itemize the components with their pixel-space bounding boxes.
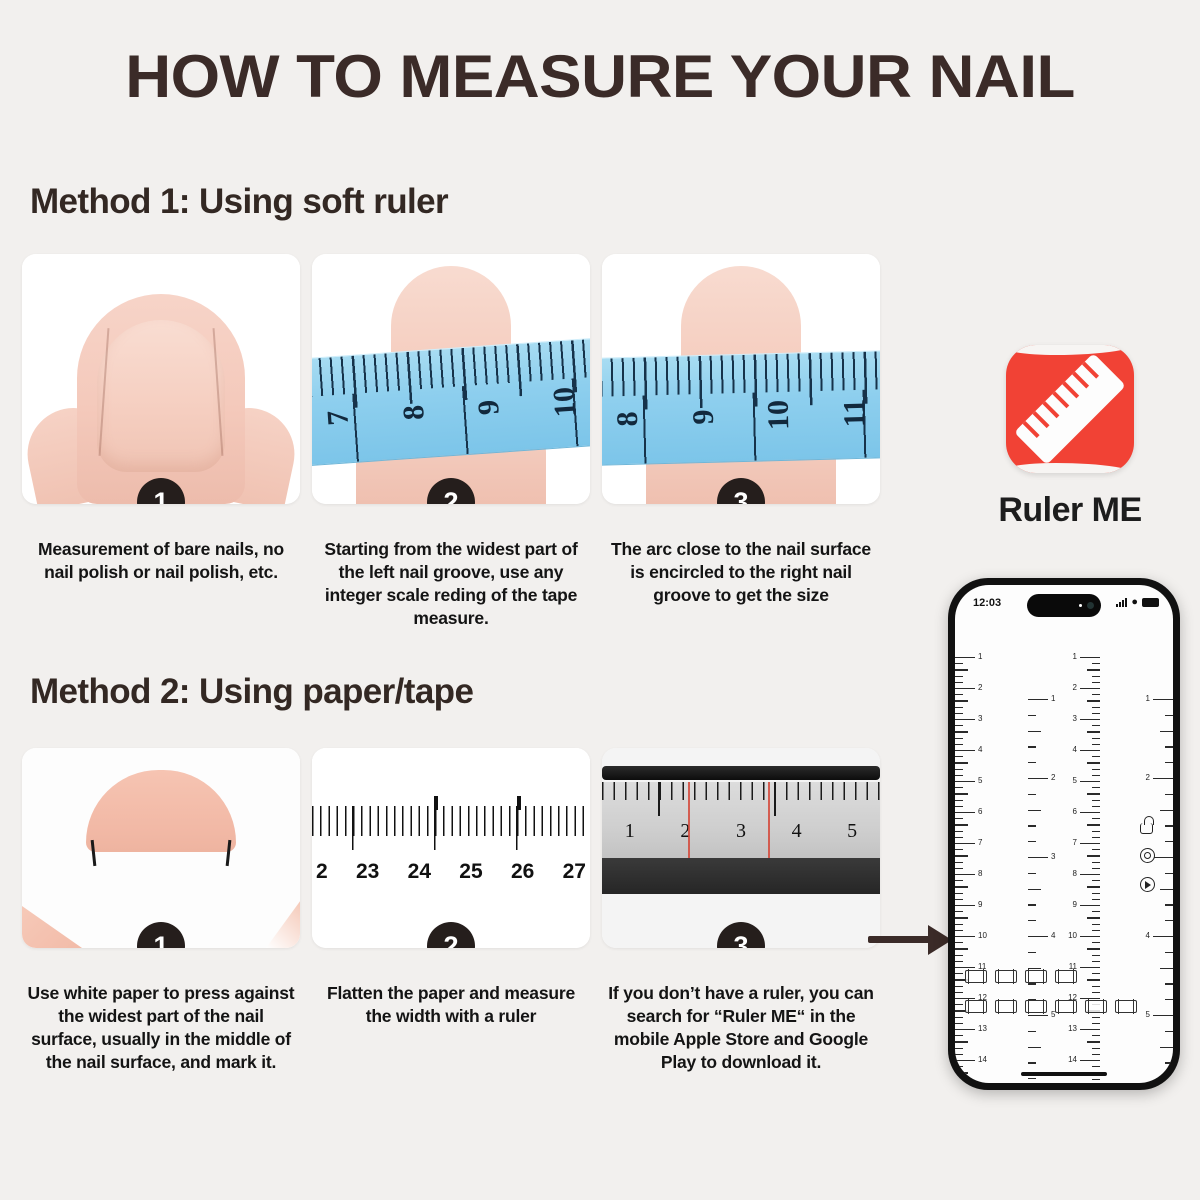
scale-minor-tick <box>955 700 968 701</box>
scale-number: 7 <box>978 838 982 847</box>
blue-tape-measure: 8 9 10 11 <box>602 350 880 466</box>
scale-minor-tick <box>1092 1017 1100 1018</box>
scale-minor-tick <box>1160 889 1173 890</box>
scale-major-tick <box>1153 857 1173 858</box>
ruler-dark-edge <box>602 766 880 780</box>
scale-minor-tick <box>1092 738 1100 739</box>
scale-minor-tick <box>1092 1048 1100 1049</box>
scale-minor-tick <box>955 1048 963 1049</box>
app-promo: Ruler ME <box>940 345 1200 530</box>
scale-minor-tick <box>955 911 963 912</box>
phone-screen[interactable]: 12:03 ● 1234567891011121314 123456789101… <box>955 585 1173 1083</box>
ruler-number: 3 <box>713 820 769 843</box>
left-cm-scale: 1234567891011121314 <box>955 625 1001 1059</box>
scale-number: 8 <box>1073 869 1077 878</box>
phone-tool-icons <box>1140 823 1155 892</box>
skin-corner-right <box>266 896 300 948</box>
scale-minor-tick <box>1087 793 1100 794</box>
scale-major-tick <box>1153 699 1173 700</box>
scale-number: 2 <box>1073 683 1077 692</box>
scale-minor-tick <box>1028 873 1036 874</box>
scale-number: 10 <box>978 931 987 940</box>
scale-minor-tick <box>1092 893 1100 894</box>
paper-ruler-photo: 2 23 24 25 26 27 2 <box>312 748 590 948</box>
scale-minor-tick <box>955 924 963 925</box>
scale-minor-tick <box>955 793 968 794</box>
scale-minor-tick <box>955 831 963 832</box>
scale-minor-tick <box>955 731 968 732</box>
measure-chip[interactable] <box>1025 1000 1047 1013</box>
scale-number: 13 <box>978 1024 987 1033</box>
scale-minor-tick <box>955 899 963 900</box>
arrow-right-icon <box>868 922 952 956</box>
scale-minor-tick <box>955 669 968 670</box>
scale-minor-tick <box>1165 999 1173 1000</box>
ruler-number: 25 <box>459 860 482 884</box>
scale-minor-tick <box>1087 731 1100 732</box>
ruler-app-icon[interactable] <box>1006 345 1134 473</box>
scale-number: 14 <box>1068 1055 1077 1064</box>
measure-widget-row[interactable] <box>965 997 1163 1016</box>
thumb-with-tape-illustration: 7 8 9 10 <box>312 254 590 504</box>
scale-minor-tick <box>955 862 963 863</box>
scale-minor-tick <box>955 880 963 881</box>
scale-minor-tick <box>955 930 963 931</box>
scale-minor-tick <box>1028 1062 1036 1063</box>
scale-minor-tick <box>955 973 963 974</box>
tape-number: 9 <box>470 369 509 447</box>
ruler-number: 5 <box>824 820 880 843</box>
scale-minor-tick <box>955 893 963 894</box>
scale-major-tick <box>955 1060 975 1061</box>
measure-chip[interactable] <box>1115 1000 1137 1013</box>
page-title: HOW TO MEASURE YOUR NAIL <box>0 42 1200 111</box>
thumb-encircled-illustration: 8 9 10 11 <box>602 254 880 504</box>
scale-number: 5 <box>1073 776 1077 785</box>
scale-minor-tick <box>1087 762 1100 763</box>
nail-imprint <box>86 770 236 852</box>
paper-ruler-numbers: 2 23 24 25 26 27 <box>312 860 590 884</box>
scale-minor-tick <box>955 1023 963 1024</box>
scale-major-tick <box>955 1029 975 1030</box>
signal-icon <box>1116 598 1127 607</box>
battery-icon <box>1142 598 1159 607</box>
paper-illustration <box>22 748 300 948</box>
method-2-step-3: 1 2 3 4 5 3 If you don’t have a ruler, y… <box>602 748 880 1074</box>
step-caption: The arc close to the nail surface is enc… <box>602 538 880 607</box>
camera-icon[interactable] <box>1140 848 1155 863</box>
scale-minor-tick <box>1165 1062 1173 1063</box>
scale-major-tick <box>955 905 975 906</box>
ruler-number: 1 <box>602 820 658 843</box>
scale-number: 6 <box>1073 807 1077 816</box>
scale-minor-tick <box>1028 904 1036 905</box>
scale-minor-tick <box>1028 746 1036 747</box>
scale-minor-tick <box>1092 924 1100 925</box>
scale-minor-tick <box>1092 800 1100 801</box>
scale-minor-tick <box>955 682 963 683</box>
scale-major-tick <box>1080 719 1100 720</box>
scale-minor-tick <box>1092 880 1100 881</box>
ruler-number: 26 <box>511 860 534 884</box>
lock-icon[interactable] <box>1140 823 1153 834</box>
scale-minor-tick <box>955 855 968 856</box>
scale-minor-tick <box>955 769 963 770</box>
ruler-number: 2 <box>658 820 714 843</box>
scale-minor-tick <box>1165 746 1173 747</box>
scale-minor-tick <box>1092 930 1100 931</box>
fingernail <box>97 320 225 472</box>
nail-on-paper-photo: 1 <box>22 748 300 948</box>
scale-minor-tick <box>1092 1023 1100 1024</box>
method-2-heading: Method 2: Using paper/tape <box>30 672 473 712</box>
step-caption: Measurement of bare nails, no nail polis… <box>22 538 300 584</box>
scale-major-tick <box>1153 778 1173 779</box>
scale-major-tick <box>1080 936 1100 937</box>
scale-minor-tick <box>1092 862 1100 863</box>
scale-minor-tick <box>955 849 963 850</box>
scale-number: 2 <box>978 683 982 692</box>
scale-minor-tick <box>1092 955 1100 956</box>
scale-minor-tick <box>955 1041 968 1042</box>
step-caption: Use white paper to press against the wid… <box>22 982 300 1074</box>
measure-chip[interactable] <box>965 970 987 983</box>
scale-minor-tick <box>955 992 963 993</box>
scale-minor-tick <box>1092 837 1100 838</box>
scale-minor-tick <box>1165 873 1173 874</box>
scale-number: 4 <box>978 745 982 754</box>
scale-minor-tick <box>1165 983 1173 984</box>
tape-measure-photo-2: 8 9 10 11 3 <box>602 254 880 504</box>
method-2-step-2: 2 23 24 25 26 27 2 Flatten the paper and… <box>312 748 590 1074</box>
method-1-step-2: 7 8 9 10 2 Starting from the widest part… <box>312 254 590 630</box>
scale-minor-tick <box>1028 1047 1041 1048</box>
method-1-step-3: 8 9 10 11 3 The arc close to the nail su… <box>602 254 880 630</box>
play-icon[interactable] <box>1140 877 1155 892</box>
scale-minor-tick <box>955 1004 963 1005</box>
scale-minor-tick <box>1092 787 1100 788</box>
tape-numbers: 8 9 10 11 <box>602 395 880 437</box>
scale-minor-tick <box>955 694 963 695</box>
scale-number: 8 <box>978 869 982 878</box>
scale-minor-tick <box>1028 1078 1036 1079</box>
ruler-body: 1 2 3 4 5 <box>602 782 880 858</box>
measure-chip[interactable] <box>1085 1000 1107 1013</box>
scale-minor-tick <box>1092 911 1100 912</box>
finger-illustration <box>22 254 300 504</box>
scale-number: 10 <box>1068 931 1077 940</box>
scale-minor-tick <box>1087 886 1100 887</box>
scale-minor-tick <box>1028 794 1036 795</box>
scale-minor-tick <box>1092 725 1100 726</box>
scale-number: 9 <box>978 900 982 909</box>
scale-minor-tick <box>1165 904 1173 905</box>
scale-minor-tick <box>955 942 963 943</box>
home-indicator <box>1021 1072 1107 1076</box>
scale-minor-tick <box>955 738 963 739</box>
scale-minor-tick <box>955 824 968 825</box>
method-1-step-1: 1 Measurement of bare nails, no nail pol… <box>22 254 300 630</box>
scale-number: 4 <box>1073 745 1077 754</box>
scale-minor-tick <box>1092 682 1100 683</box>
scale-minor-tick <box>955 1072 968 1073</box>
scale-minor-tick <box>1092 775 1100 776</box>
scale-minor-tick <box>1092 1066 1100 1067</box>
scale-minor-tick <box>1028 920 1036 921</box>
scale-minor-tick <box>1165 920 1173 921</box>
scale-minor-tick <box>955 837 963 838</box>
scale-major-tick <box>1080 1029 1100 1030</box>
scale-minor-tick <box>1087 1041 1100 1042</box>
scale-major-tick <box>1080 688 1100 689</box>
scale-minor-tick <box>955 1035 963 1036</box>
metal-ruler-illustration: 1 2 3 4 5 <box>602 748 880 948</box>
scale-minor-tick <box>955 744 963 745</box>
scale-minor-tick <box>1165 1031 1173 1032</box>
bare-nail-photo: 1 <box>22 254 300 504</box>
tape-number: 8 <box>610 381 646 457</box>
scale-number: 6 <box>978 807 982 816</box>
scale-major-tick <box>1080 843 1100 844</box>
tape-number: 11 <box>836 375 872 451</box>
scale-minor-tick <box>1092 1054 1100 1055</box>
scale-major-tick <box>955 750 975 751</box>
scale-major-tick <box>955 688 975 689</box>
step-caption: Starting from the widest part of the lef… <box>312 538 590 630</box>
scale-minor-tick <box>1087 948 1100 949</box>
method-1-heading: Method 1: Using soft ruler <box>30 182 448 222</box>
scale-number: 3 <box>1073 714 1077 723</box>
scale-minor-tick <box>1087 669 1100 670</box>
scale-minor-tick <box>1087 917 1100 918</box>
center-scale: 123456789101112131412345 <box>1028 625 1100 1059</box>
scale-minor-tick <box>955 948 968 949</box>
scale-minor-tick <box>1165 794 1173 795</box>
scale-number: 1 <box>978 652 982 661</box>
scale-minor-tick <box>1165 715 1173 716</box>
scale-minor-tick <box>955 663 963 664</box>
scale-minor-tick <box>1028 841 1036 842</box>
dynamic-island <box>1027 594 1101 617</box>
sensor-dot <box>1079 604 1082 607</box>
measure-chip[interactable] <box>1025 970 1047 983</box>
scale-major-tick <box>1028 857 1048 858</box>
method-2-steps: 1 Use white paper to press against the w… <box>22 748 880 1074</box>
scale-minor-tick <box>1165 841 1173 842</box>
scale-number: 4 <box>1146 931 1150 940</box>
status-bar-time: 12:03 <box>973 597 1001 609</box>
scale-minor-tick <box>1160 1047 1173 1048</box>
scale-minor-tick <box>955 961 963 962</box>
paper-ruler-top <box>312 748 590 804</box>
tape-number: 10 <box>761 377 797 453</box>
scale-number: 2 <box>1146 773 1150 782</box>
scale-number: 1 <box>1051 694 1055 703</box>
scale-major-tick <box>1080 905 1100 906</box>
scale-major-tick <box>1080 874 1100 875</box>
scale-minor-tick <box>955 725 963 726</box>
scale-major-tick <box>955 874 975 875</box>
scale-minor-tick <box>955 713 963 714</box>
scale-minor-tick <box>955 1066 963 1067</box>
scale-minor-tick <box>1092 756 1100 757</box>
ruler-major-ticks <box>602 782 880 816</box>
measure-chip[interactable] <box>1055 1000 1077 1013</box>
metal-ruler-photo: 1 2 3 4 5 3 <box>602 748 880 948</box>
scale-minor-tick <box>1160 731 1173 732</box>
scale-minor-tick <box>955 818 963 819</box>
ruler-number: 4 <box>769 820 825 843</box>
scale-major-tick <box>955 843 975 844</box>
status-bar-indicators: ● <box>1116 597 1159 608</box>
scale-number: 3 <box>1051 852 1055 861</box>
scale-number: 5 <box>978 776 982 785</box>
tape-number: 8 <box>394 374 433 452</box>
scale-minor-tick <box>1092 942 1100 943</box>
scale-major-tick <box>1028 699 1048 700</box>
scale-minor-tick <box>955 756 963 757</box>
tape-number: 10 <box>545 363 584 441</box>
scale-minor-tick <box>1160 810 1173 811</box>
scale-minor-tick <box>955 986 963 987</box>
scale-major-tick <box>1028 936 1048 937</box>
scale-major-tick <box>1080 781 1100 782</box>
scale-minor-tick <box>1092 831 1100 832</box>
scale-minor-tick <box>955 762 968 763</box>
scale-minor-tick <box>1092 806 1100 807</box>
scale-major-tick <box>955 936 975 937</box>
scale-minor-tick <box>1028 731 1041 732</box>
method-2-step-1: 1 Use white paper to press against the w… <box>22 748 300 1074</box>
scale-minor-tick <box>1092 992 1100 993</box>
scale-minor-tick <box>1092 818 1100 819</box>
scale-major-tick <box>955 719 975 720</box>
scale-number: 3 <box>978 714 982 723</box>
measure-chip[interactable] <box>995 1000 1017 1013</box>
scale-minor-tick <box>955 787 963 788</box>
scale-minor-tick <box>1028 762 1036 763</box>
ruler-glyph <box>1014 353 1126 465</box>
measure-widget-row[interactable] <box>965 967 1163 986</box>
scale-major-tick <box>955 781 975 782</box>
scale-number: 4 <box>1051 931 1055 940</box>
measure-chip[interactable] <box>965 1000 987 1013</box>
phone-mockup: 12:03 ● 1234567891011121314 123456789101… <box>948 578 1180 1090</box>
ruler-mid-ticks <box>312 806 590 850</box>
scale-minor-tick <box>1165 762 1173 763</box>
scale-minor-tick <box>1092 676 1100 677</box>
metal-ruler-numbers: 1 2 3 4 5 <box>602 820 880 843</box>
scale-number: 1 <box>1073 652 1077 661</box>
blue-tape-measure: 7 8 9 10 <box>312 338 590 467</box>
paper-ruler-illustration: 2 23 24 25 26 27 <box>312 748 590 948</box>
ruler-number: 2 <box>316 860 328 884</box>
scale-minor-tick <box>955 800 963 801</box>
wifi-icon: ● <box>1131 597 1138 608</box>
scale-minor-tick <box>955 1054 963 1055</box>
step-caption: If you don’t have a ruler, you can searc… <box>602 982 880 1074</box>
scale-minor-tick <box>1092 961 1100 962</box>
tape-number: 7 <box>319 379 358 457</box>
scale-major-tick <box>1080 812 1100 813</box>
tape-number: 9 <box>685 379 721 455</box>
scale-minor-tick <box>1092 707 1100 708</box>
tape-measure-photo-1: 7 8 9 10 2 <box>312 254 590 504</box>
arrow-shaft <box>868 936 930 943</box>
scale-minor-tick <box>1087 700 1100 701</box>
scale-minor-tick <box>955 1079 963 1080</box>
scale-major-tick <box>1080 750 1100 751</box>
measure-chip[interactable] <box>1055 970 1077 983</box>
scale-major-tick <box>1028 778 1048 779</box>
ruler-bottom-edge <box>602 858 880 894</box>
scale-minor-tick <box>1087 855 1100 856</box>
finger-body <box>77 294 245 504</box>
front-camera-icon <box>1087 602 1094 609</box>
scale-major-tick <box>955 657 975 658</box>
scale-minor-tick <box>1028 810 1041 811</box>
scale-minor-tick <box>1092 849 1100 850</box>
scale-minor-tick <box>955 917 968 918</box>
scale-minor-tick <box>1028 952 1036 953</box>
scale-number: 2 <box>1051 773 1055 782</box>
method-1-steps: 1 Measurement of bare nails, no nail pol… <box>22 254 880 630</box>
scale-minor-tick <box>955 955 963 956</box>
scale-minor-tick <box>955 1017 963 1018</box>
measure-chip[interactable] <box>995 970 1017 983</box>
scale-minor-tick <box>955 868 963 869</box>
scale-minor-tick <box>1092 769 1100 770</box>
scale-minor-tick <box>955 886 968 887</box>
scale-minor-tick <box>1092 868 1100 869</box>
scale-minor-tick <box>955 676 963 677</box>
scale-number: 13 <box>1068 1024 1077 1033</box>
scale-major-tick <box>1080 1060 1100 1061</box>
scale-minor-tick <box>1087 824 1100 825</box>
scale-minor-tick <box>1092 663 1100 664</box>
scale-minor-tick <box>1028 715 1036 716</box>
scale-minor-tick <box>1092 713 1100 714</box>
ruler-number: 23 <box>356 860 379 884</box>
scale-minor-tick <box>1092 1035 1100 1036</box>
scale-number: 1 <box>1146 694 1150 703</box>
scale-minor-tick <box>1165 825 1173 826</box>
scale-minor-tick <box>955 806 963 807</box>
scale-major-tick <box>955 812 975 813</box>
scale-minor-tick <box>1028 825 1036 826</box>
scale-number: 9 <box>1073 900 1077 909</box>
scale-major-tick <box>1080 657 1100 658</box>
scale-minor-tick <box>1028 1031 1036 1032</box>
ruler-number: 24 <box>408 860 431 884</box>
scale-number: 7 <box>1073 838 1077 847</box>
scale-minor-tick <box>1165 952 1173 953</box>
scale-minor-tick <box>1092 1079 1100 1080</box>
step-caption: Flatten the paper and measure the width … <box>312 982 590 1028</box>
skin-corner-left <box>22 906 82 948</box>
scale-minor-tick <box>1092 694 1100 695</box>
scale-minor-tick <box>1092 899 1100 900</box>
scale-minor-tick <box>1165 1078 1173 1079</box>
scale-minor-tick <box>955 775 963 776</box>
scale-number: 14 <box>978 1055 987 1064</box>
scale-minor-tick <box>1092 744 1100 745</box>
scale-major-tick <box>1153 936 1173 937</box>
scale-minor-tick <box>955 707 963 708</box>
scale-minor-tick <box>1028 889 1041 890</box>
ruler-number: 27 <box>563 860 586 884</box>
app-name-label: Ruler ME <box>940 491 1200 530</box>
